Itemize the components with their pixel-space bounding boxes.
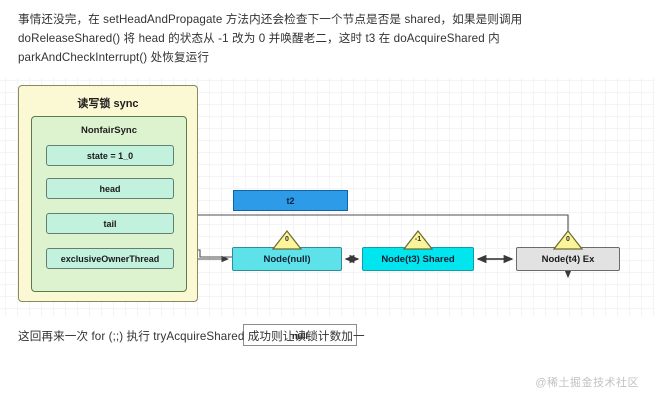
note-top: 事情还没完，在 setHeadAndPropagate 方法内还会检查下一个节点… — [18, 10, 522, 67]
node-null: Node(null) — [232, 247, 342, 271]
sync-box: 读写锁 sync NonfairSync state = 1_0 head ta… — [18, 85, 198, 302]
field-head: head — [46, 178, 174, 199]
sync-box-title: 读写锁 sync — [19, 95, 197, 111]
note-bottom: 这回再来一次 for (;;) 执行 tryAcquireShared 成功则让… — [18, 327, 365, 346]
wait-status-badge-node-t4: 0 — [553, 230, 583, 250]
field-tail: tail — [46, 213, 174, 234]
note-top-line-3: parkAndCheckInterrupt() 处恢复运行 — [18, 48, 522, 67]
node-t3-shared: Node(t3) Shared — [362, 247, 474, 271]
wait-status-value: 0 — [553, 236, 583, 243]
wait-status-value: 0 — [272, 236, 302, 243]
note-top-line-2: doReleaseShared() 将 head 的状态从 -1 改为 0 并唤… — [18, 29, 522, 48]
wait-status-value: -1 — [403, 236, 433, 243]
watermark: @稀土掘金技术社区 — [535, 374, 639, 390]
field-exclusive-owner-thread: exclusiveOwnerThread — [46, 248, 174, 269]
node-t4-exclusive: Node(t4) Ex — [516, 247, 620, 271]
wait-status-badge-node-t3: -1 — [403, 230, 433, 250]
diagram-canvas: 读写锁 sync NonfairSync state = 1_0 head ta… — [0, 78, 655, 316]
nonfair-sync-title: NonfairSync — [32, 125, 186, 136]
wait-status-badge-node-null: 0 — [272, 230, 302, 250]
field-state: state = 1_0 — [46, 145, 174, 166]
nonfair-sync-box: NonfairSync state = 1_0 head tail exclus… — [31, 116, 187, 292]
thread-bar-t2: t2 — [233, 190, 348, 211]
note-top-line-1: 事情还没完，在 setHeadAndPropagate 方法内还会检查下一个节点… — [18, 10, 522, 29]
